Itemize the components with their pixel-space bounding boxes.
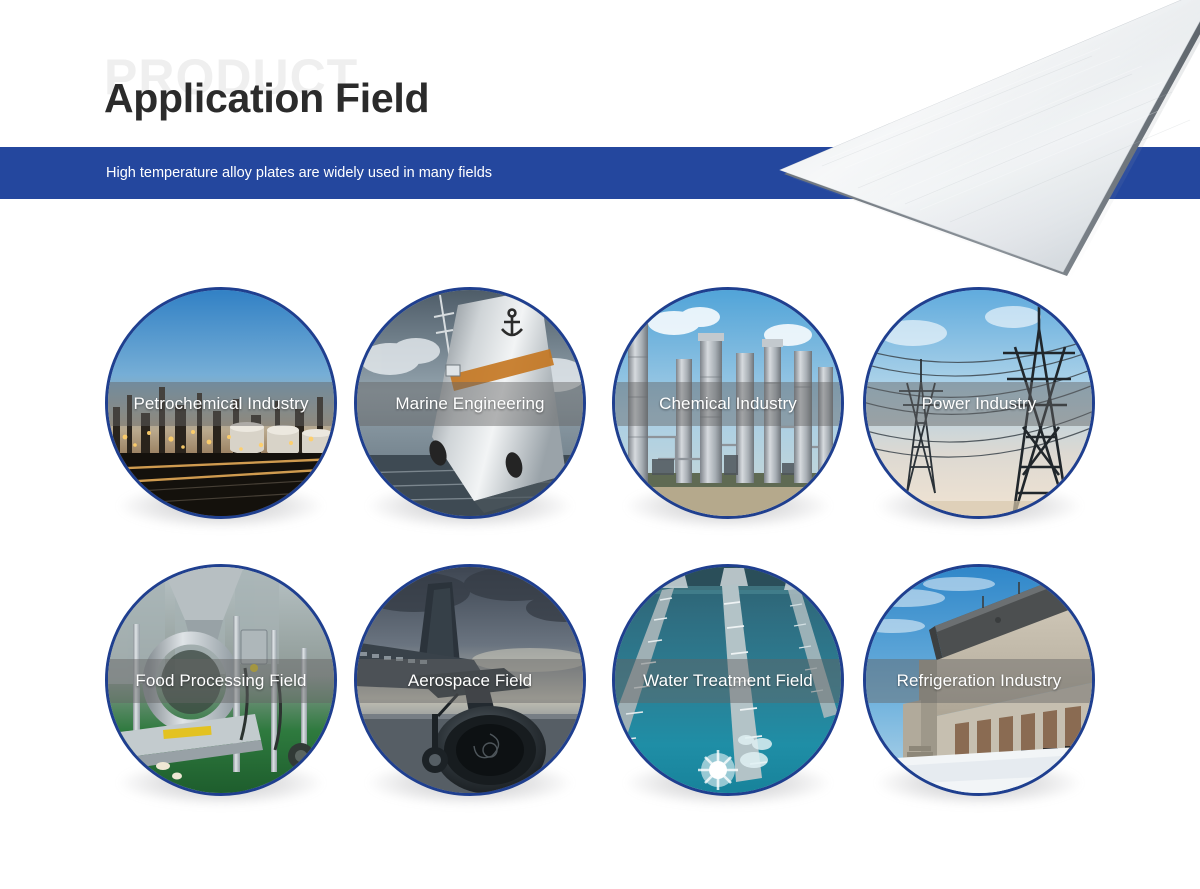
circle-frame: Aerospace Field <box>354 564 586 796</box>
card-label-band: Water Treatment Field <box>615 659 841 703</box>
application-card-power-industry[interactable]: Power Industry <box>863 287 1095 519</box>
application-card-food-processing-field[interactable]: Food Processing Field <box>105 564 337 796</box>
page-title: Application Field <box>104 76 429 121</box>
page-header: PRODUCT Application Field <box>0 0 1200 147</box>
card-label-band: Refrigeration Industry <box>866 659 1092 703</box>
circle-frame: Power Industry <box>863 287 1095 519</box>
application-field-slide: PRODUCT Application Field High temperatu… <box>0 0 1200 889</box>
card-label: Chemical Industry <box>659 394 797 414</box>
application-card-aerospace-field[interactable]: Aerospace Field <box>354 564 586 796</box>
circle-frame: Refrigeration Industry <box>863 564 1095 796</box>
application-card-petrochemical-industry[interactable]: Petrochemical Industry <box>105 287 337 519</box>
application-card-refrigeration-industry[interactable]: Refrigeration Industry <box>863 564 1095 796</box>
circle-frame: Petrochemical Industry <box>105 287 337 519</box>
subtitle-banner: High temperature alloy plates are widely… <box>0 147 1200 199</box>
card-label: Petrochemical Industry <box>133 394 308 414</box>
card-label: Power Industry <box>922 394 1037 414</box>
card-label-band: Petrochemical Industry <box>108 382 334 426</box>
card-label: Food Processing Field <box>135 671 306 691</box>
card-label: Water Treatment Field <box>643 671 813 691</box>
card-label: Marine Engineering <box>395 394 544 414</box>
card-label-band: Food Processing Field <box>108 659 334 703</box>
grid-row: Petrochemical Industry <box>105 287 1095 519</box>
card-label-band: Marine Engineering <box>357 382 583 426</box>
circle-frame: Chemical Industry <box>612 287 844 519</box>
card-label-band: Aerospace Field <box>357 659 583 703</box>
banner-subtitle: High temperature alloy plates are widely… <box>106 147 492 199</box>
circle-frame: Food Processing Field <box>105 564 337 796</box>
circle-frame: Water Treatment Field <box>612 564 844 796</box>
card-label: Aerospace Field <box>408 671 532 691</box>
application-card-water-treatment-field[interactable]: Water Treatment Field <box>612 564 844 796</box>
card-label: Refrigeration Industry <box>897 671 1062 691</box>
application-grid: Petrochemical Industry <box>105 287 1095 807</box>
application-card-chemical-industry[interactable]: Chemical Industry <box>612 287 844 519</box>
card-label-band: Chemical Industry <box>615 382 841 426</box>
circle-frame: Marine Engineering <box>354 287 586 519</box>
grid-row: Food Processing Field <box>105 564 1095 796</box>
application-card-marine-engineering[interactable]: Marine Engineering <box>354 287 586 519</box>
card-label-band: Power Industry <box>866 382 1092 426</box>
